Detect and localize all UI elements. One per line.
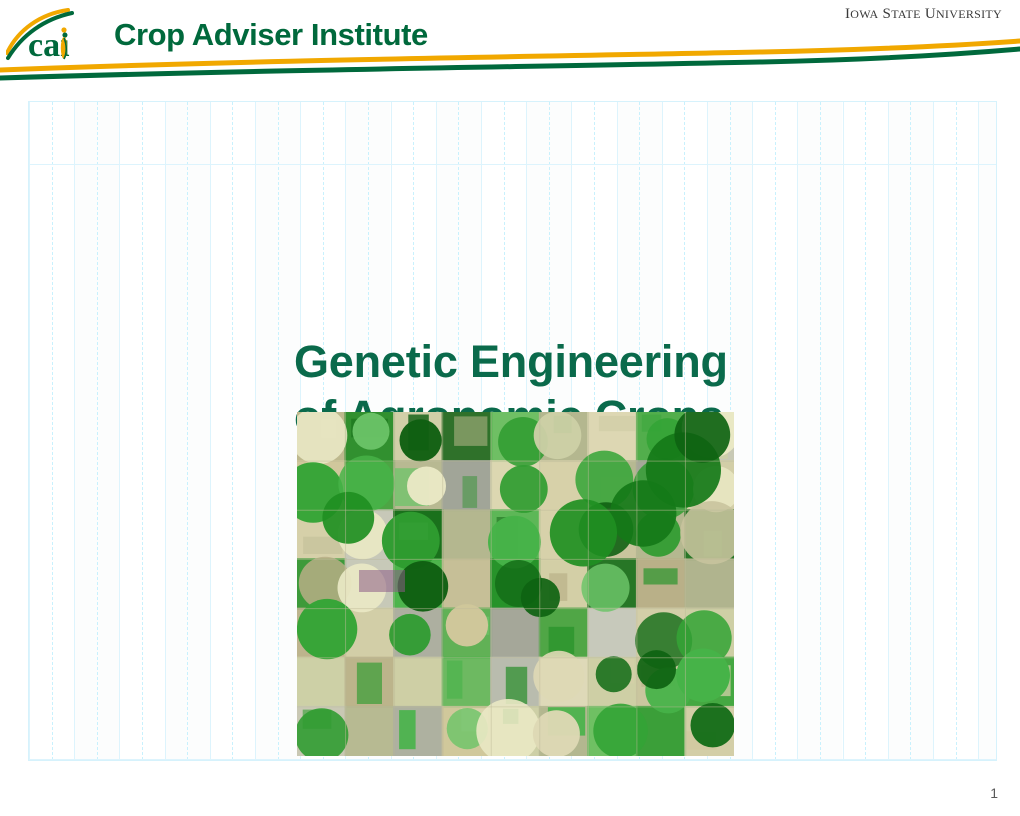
grid-band — [74, 102, 119, 760]
grid-vline — [843, 102, 844, 760]
grid-vline — [888, 102, 889, 760]
slide-title-line-1: Genetic Engineering — [294, 336, 728, 387]
page-header: cai Crop Adviser Institute IOWA STATE UN… — [0, 0, 1020, 88]
grid-vline — [165, 102, 166, 760]
farmland-aerial-image — [297, 412, 734, 756]
grid-vdash — [187, 102, 188, 760]
wordmark-part-tate: TATE — [891, 7, 921, 21]
institute-name-label: Crop Adviser Institute — [114, 17, 428, 53]
wordmark-part-u: U — [925, 6, 936, 22]
grid-vline — [119, 102, 120, 760]
grid-vdash — [97, 102, 98, 760]
grid-vline — [210, 102, 211, 760]
grid-vline — [255, 102, 256, 760]
grid-hline — [29, 164, 996, 165]
farmland-aerial-svg — [297, 412, 734, 756]
grid-vdash — [232, 102, 233, 760]
grid-band — [888, 102, 933, 760]
grid-band — [165, 102, 210, 760]
grid-vdash — [52, 102, 53, 760]
wordmark-part-niversity: NIVERSITY — [936, 7, 1002, 21]
slide-content-area: Genetic Engineering of Agronomic Crops M… — [28, 101, 997, 761]
cai-logo-icon: cai — [6, 8, 106, 70]
grid-vline — [978, 102, 979, 760]
iowa-state-university-wordmark: IOWA STATE UNIVERSITY — [845, 6, 1002, 23]
grid-vdash — [865, 102, 866, 760]
wordmark-part-owa: OWA — [850, 7, 878, 21]
wordmark-part-s: S — [883, 6, 892, 22]
grid-vdash — [956, 102, 957, 760]
grid-vdash — [278, 102, 279, 760]
grid-vdash — [910, 102, 911, 760]
grid-vline — [74, 102, 75, 760]
grid-hline — [29, 759, 996, 760]
grid-band — [978, 102, 997, 760]
page-number-label: 1 — [990, 785, 998, 801]
grid-vline — [29, 102, 30, 760]
grid-vdash — [142, 102, 143, 760]
grid-vline — [933, 102, 934, 760]
